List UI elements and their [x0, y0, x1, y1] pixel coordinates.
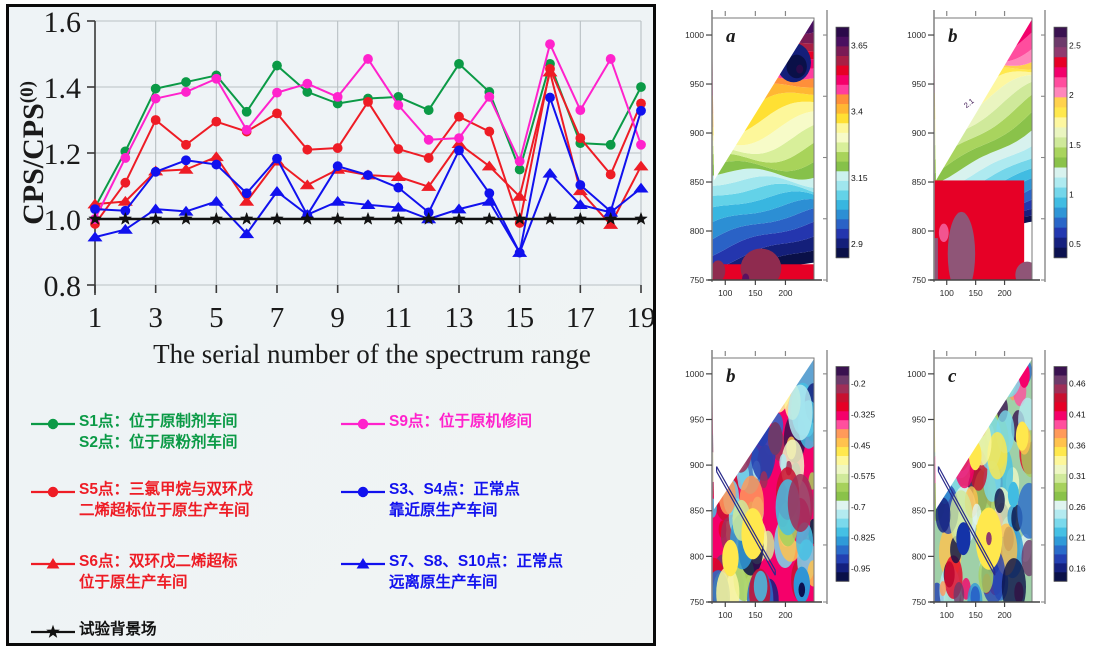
- colorbar-tick: 0.31: [1069, 471, 1086, 481]
- legend-item-s9[interactable]: S9点：位于原机修间: [339, 411, 532, 434]
- map-y-tick: 800: [690, 551, 704, 561]
- legend-label-s1s2: S1点：位于原制剂车间 S2点：位于原粉剂车间: [79, 411, 237, 453]
- map-x-tick: 200: [997, 288, 1011, 298]
- map-y-tick: 1000: [907, 369, 926, 379]
- panel-label: c: [948, 366, 957, 387]
- legend-label-s6: S6点：双环戊二烯超标 位于原生产车间: [79, 551, 237, 593]
- map-a: 75080085090095010001001502003.653.43.152…: [668, 4, 890, 324]
- x-tick-label: 9: [330, 302, 345, 334]
- colorbar-tick: 0.26: [1069, 502, 1086, 512]
- map-y-tick: 1000: [685, 369, 704, 379]
- map-x-tick: 150: [748, 610, 762, 620]
- y-tick-label: 1.4: [44, 72, 82, 105]
- colorbar-tick: -0.95: [851, 563, 871, 573]
- colorbar-tick: 3.4: [851, 107, 863, 117]
- map-x-tick: 100: [718, 288, 732, 298]
- line-chart-svg: 0.81.01.21.41.6 135791113151719 CPS/CPS(…: [9, 7, 653, 379]
- map-y-tick: 750: [912, 275, 926, 285]
- map-a-svg: 75080085090095010001001502003.653.43.152…: [668, 4, 890, 324]
- map-y-tick: 850: [912, 177, 926, 187]
- map-x-tick: 200: [778, 610, 792, 620]
- legend-label-s7s8s10: S7、S8、S10点：正常点 远离原生产车间: [389, 551, 563, 593]
- x-tick-label: 13: [445, 302, 474, 334]
- map-d-svg: 75080085090095010001001502000.460.410.36…: [890, 344, 1108, 646]
- map-x-tick: 100: [940, 610, 954, 620]
- line-chart-panel: 0.81.01.21.41.6 135791113151719 CPS/CPS(…: [6, 4, 656, 646]
- map-y-tick: 950: [912, 414, 926, 424]
- colorbar-tick: -0.575: [851, 471, 875, 481]
- panel-label: a: [726, 26, 736, 47]
- legend-marker-circle: [339, 482, 389, 502]
- legend-swatch-bg: [29, 622, 79, 642]
- colorbar-tick: -0.825: [851, 533, 875, 543]
- x-tick-label: 15: [505, 302, 534, 334]
- legend-marker-star: [29, 622, 79, 642]
- legend-item-s3s4[interactable]: S3、S4点：正常点 靠近原生产车间: [339, 479, 520, 521]
- legend-label-s9: S9点：位于原机修间: [389, 411, 532, 432]
- map-y-tick: 900: [912, 128, 926, 138]
- map-y-tick: 900: [912, 460, 926, 470]
- legend-label-bg: 试验背景场: [79, 619, 157, 640]
- colorbar-tick: 3.15: [851, 173, 868, 183]
- map-c-svg: 7508008509009501000100150200-0.2-0.325-0…: [668, 344, 890, 646]
- map-b: 2.175080085090095010001001502002.521.510…: [890, 4, 1108, 324]
- colorbar-tick: 3.65: [851, 41, 868, 51]
- figure-root: 0.81.01.21.41.6 135791113151719 CPS/CPS(…: [0, 0, 1108, 650]
- map-y-tick: 750: [690, 597, 704, 607]
- x-tick-label: 5: [209, 302, 224, 334]
- legend-marker-circle: [339, 414, 389, 434]
- map-x-tick: 200: [778, 288, 792, 298]
- legend-item-s5[interactable]: S5点：三氯甲烷与双环戊 二烯超标位于原生产车间: [29, 479, 253, 521]
- legend-item-s6[interactable]: S6点：双环戊二烯超标 位于原生产车间: [29, 551, 237, 593]
- legend-marker-circle: [29, 414, 79, 434]
- map-x-tick: 200: [997, 610, 1011, 620]
- map-y-tick: 850: [912, 506, 926, 516]
- y-tick-label: 1.6: [44, 7, 82, 39]
- x-tick-label: 1: [88, 302, 103, 334]
- map-y-tick: 1000: [685, 30, 704, 40]
- panel-label: b: [948, 26, 958, 47]
- colorbar-tick: 0.46: [1069, 379, 1086, 389]
- colorbar-tick: 0.16: [1069, 563, 1086, 573]
- x-tick-labels: 135791113151719: [88, 302, 653, 334]
- map-x-tick: 150: [969, 610, 983, 620]
- legend-swatch-s6: [29, 554, 79, 574]
- panel-label: b: [726, 366, 736, 387]
- colorbar-tick: 2.9: [851, 239, 863, 249]
- x-tick-label: 17: [566, 302, 595, 334]
- map-y-tick: 800: [912, 551, 926, 561]
- map-y-tick: 950: [690, 414, 704, 424]
- y-tick-label: 0.8: [44, 270, 82, 303]
- map-x-tick: 150: [969, 288, 983, 298]
- x-axis-label: The serial number of the spectrum range: [153, 339, 591, 369]
- x-tick-label: 11: [384, 302, 412, 334]
- colorbar-tick: 0.5: [1069, 239, 1081, 249]
- colorbar-tick: 2.5: [1069, 41, 1081, 51]
- x-tick-label: 19: [627, 302, 654, 334]
- x-tick-label: 7: [270, 302, 285, 334]
- colorbar-tick: -0.45: [851, 440, 871, 450]
- map-y-tick: 850: [690, 506, 704, 516]
- map-y-tick: 800: [912, 226, 926, 236]
- legend-item-s7s8s10[interactable]: S7、S8、S10点：正常点 远离原生产车间: [339, 551, 563, 593]
- colorbar-tick: -0.2: [851, 379, 866, 389]
- map-y-tick: 1000: [907, 30, 926, 40]
- map-y-tick: 950: [690, 79, 704, 89]
- map-b-svg: 2.175080085090095010001001502002.521.510…: [890, 4, 1108, 324]
- colorbar-tick: 0.41: [1069, 409, 1086, 419]
- legend-marker-circle: [29, 482, 79, 502]
- legend-swatch-s7s8s10: [339, 554, 389, 574]
- map-y-tick: 900: [690, 128, 704, 138]
- map-x-tick: 100: [718, 610, 732, 620]
- legend-label-s5: S5点：三氯甲烷与双环戊 二烯超标位于原生产车间: [79, 479, 253, 521]
- map-y-tick: 750: [912, 597, 926, 607]
- legend-label-s3s4: S3、S4点：正常点 靠近原生产车间: [389, 479, 520, 521]
- contour-maps-panel: 75080085090095010001001502003.653.43.152…: [662, 0, 1108, 650]
- legend-item-s1s2[interactable]: S1点：位于原制剂车间 S2点：位于原粉剂车间: [29, 411, 237, 453]
- map-c: 7508008509009501000100150200-0.2-0.325-0…: [668, 344, 890, 646]
- map-y-tick: 750: [690, 275, 704, 285]
- map-y-tick: 900: [690, 460, 704, 470]
- map-y-tick: 850: [690, 177, 704, 187]
- map-y-tick: 800: [690, 226, 704, 236]
- legend-swatch-s5: [29, 482, 79, 502]
- legend-marker-triangle: [29, 554, 79, 574]
- legend-swatch-s1s2: [29, 414, 79, 434]
- legend-item-bg[interactable]: 试验背景场: [29, 619, 157, 642]
- legend-swatch-s3s4: [339, 482, 389, 502]
- colorbar-tick: -0.7: [851, 502, 866, 512]
- colorbar-tick: 0.36: [1069, 440, 1086, 450]
- colorbar-tick: 2: [1069, 90, 1074, 100]
- x-tick-label: 3: [148, 302, 163, 334]
- legend-swatch-s9: [339, 414, 389, 434]
- map-x-tick: 100: [940, 288, 954, 298]
- colorbar-tick: 1: [1069, 189, 1074, 199]
- legend: S1点：位于原制剂车间 S2点：位于原粉剂车间S5点：三氯甲烷与双环戊 二烯超标…: [9, 379, 653, 643]
- legend-marker-triangle: [339, 554, 389, 574]
- colorbar-tick: 1.5: [1069, 140, 1081, 150]
- colorbar-tick: -0.325: [851, 409, 875, 419]
- map-d: 75080085090095010001001502000.460.410.36…: [890, 344, 1108, 646]
- map-y-tick: 950: [912, 79, 926, 89]
- map-x-tick: 150: [748, 288, 762, 298]
- line-chart: 0.81.01.21.41.6 135791113151719 CPS/CPS(…: [9, 7, 653, 379]
- colorbar-tick: 0.21: [1069, 533, 1086, 543]
